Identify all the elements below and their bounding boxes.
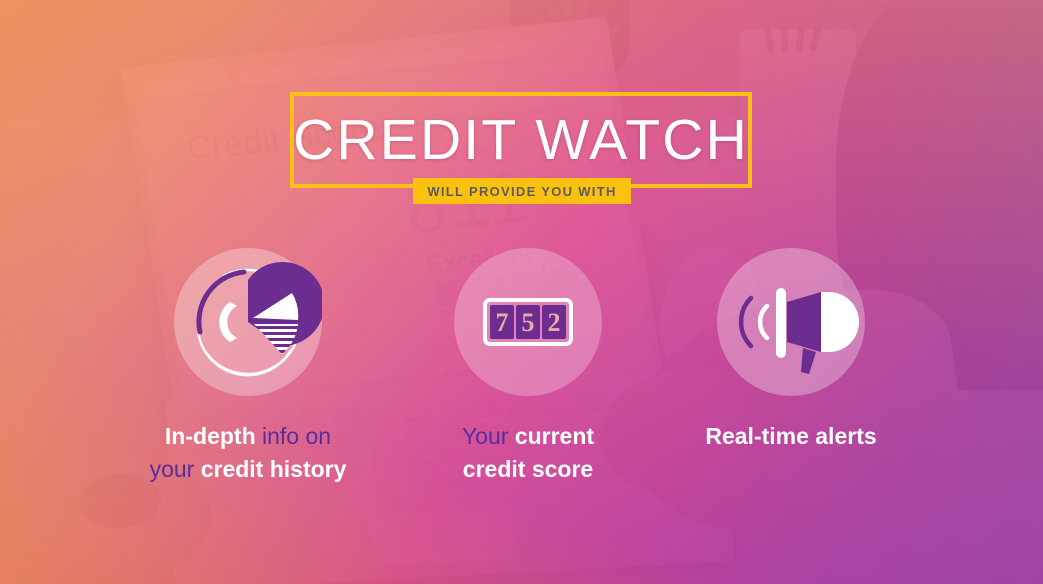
- megaphone-icon: [717, 248, 865, 396]
- pie-chart-icon: [174, 248, 322, 396]
- feature-row: In-depth info on your credit history 7: [0, 248, 1043, 488]
- caption-light-1: Your: [462, 423, 515, 449]
- score-digit-2: 5: [522, 308, 535, 337]
- icon-backdrop-circle: [717, 248, 865, 396]
- slide-content: CREDIT WATCH WILL PROVIDE YOU WITH: [0, 0, 1043, 584]
- caption-bold-2: credit history: [201, 456, 347, 482]
- credit-score-digits-icon: 7 5 2: [454, 248, 602, 396]
- feature-item-alerts: Real-time alerts: [664, 248, 918, 453]
- feature-item-credit-score: 7 5 2 Your current credit score: [400, 248, 656, 486]
- caption-bold-2: credit score: [463, 456, 593, 482]
- caption-bold-1: Real-time alerts: [705, 423, 876, 449]
- score-digit-1: 7: [496, 308, 509, 337]
- slide-root: Credit Score Home My Score How My Colleg…: [0, 0, 1043, 584]
- caption-light-2: your: [150, 456, 201, 482]
- page-title: CREDIT WATCH: [290, 92, 752, 188]
- caption-bold-1: In-depth: [165, 423, 256, 449]
- icon-backdrop-circle: [174, 248, 322, 396]
- subtitle-text: WILL PROVIDE YOU WITH: [427, 184, 616, 199]
- score-digit-3: 2: [548, 308, 561, 337]
- feature-caption: Real-time alerts: [664, 420, 918, 453]
- feature-item-credit-history: In-depth info on your credit history: [118, 248, 378, 486]
- subtitle-ribbon: WILL PROVIDE YOU WITH: [413, 178, 631, 204]
- icon-backdrop-circle: 7 5 2: [454, 248, 602, 396]
- caption-bold-1: current: [515, 423, 594, 449]
- feature-caption: In-depth info on your credit history: [118, 420, 378, 486]
- feature-caption: Your current credit score: [400, 420, 656, 486]
- caption-light-1: info on: [256, 423, 331, 449]
